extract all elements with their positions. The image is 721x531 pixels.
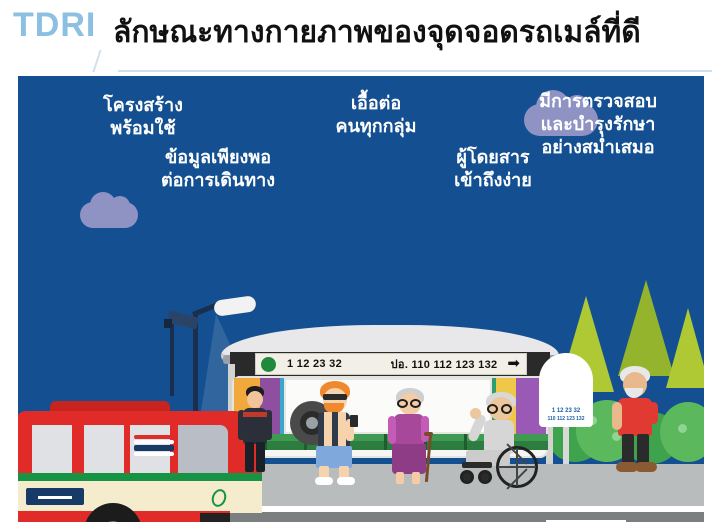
sign-routes-line2: 110 112 123 132: [536, 415, 596, 423]
shoe: [635, 462, 657, 472]
route-numbers-aircon: ปอ. 110 112 123 132: [391, 355, 498, 373]
glasses-icon: [397, 399, 408, 408]
sunglasses-icon: [323, 394, 347, 400]
bus-window: [30, 423, 74, 475]
glasses-icon: [487, 404, 498, 414]
cctv-pole: [170, 324, 174, 396]
crosswalk-stripe: [546, 520, 626, 522]
bus-stop-sign-routes: 1 12 23 32 110 112 123 132: [536, 407, 596, 423]
person-officer: [238, 386, 272, 476]
bus-destination-plate: [26, 488, 84, 505]
header-underline: [118, 70, 712, 72]
thai-flag-decal: [134, 433, 174, 455]
tree-far-right: [666, 308, 704, 388]
bus-bumper: [200, 513, 230, 522]
person-elderly-woman-with-cane: [384, 388, 438, 484]
person-elderly-jogger: [613, 366, 659, 474]
sign-routes-line1: 1 12 23 32: [536, 407, 596, 415]
wheelchair-footrest: [462, 462, 492, 468]
route-numbers-ordinary: 1 12 23 32: [287, 358, 342, 370]
tdri-logo: TDRI: [13, 8, 96, 42]
bus-window: [82, 423, 126, 475]
label-inclusive-for-all: เอื้อต่อ คนทุกกลุ่ม: [296, 92, 456, 138]
label-sufficient-information: ข้อมูลเพียงพอ ต่อการเดินทาง: [118, 146, 318, 192]
raised-hand-icon: [470, 408, 481, 419]
wheelchair-caster-rear: [478, 470, 492, 484]
green-route-dot-icon: [261, 357, 276, 372]
slide-root: TDRI ลักษณะทางกายภาพของจุดจอดรถเมล์ที่ดี: [0, 0, 721, 531]
route-info-sign[interactable]: 1 12 23 32 ปอ. 110 112 123 132 ➡: [255, 353, 527, 375]
infographic-poster: โครงสร้าง พร้อมใช้ ข้อมูลเพียงพอ ต่อการเ…: [18, 76, 704, 522]
person-tourist-with-phone: [306, 381, 360, 481]
label-infrastructure-ready: โครงสร้าง พร้อมใช้: [68, 94, 218, 140]
page-title: ลักษณะทางกายภาพของจุดจอดรถเมล์ที่ดี: [113, 10, 713, 56]
direction-arrow-icon: ➡: [507, 359, 520, 369]
cctv-lens-icon: [164, 319, 172, 328]
person-wheelchair-user: [456, 394, 536, 484]
smartphone-icon: [350, 415, 358, 427]
wheelchair-caster-front: [460, 470, 474, 484]
shorts: [316, 446, 352, 468]
beard-icon: [625, 388, 643, 398]
label-regular-maintenance: มีการตรวจสอบ และบำรุงรักษา อย่างสม่ำเสมอ: [508, 90, 688, 159]
cloud-left: [80, 202, 138, 228]
city-bus: [18, 393, 268, 522]
slide-header: TDRI ลักษณะทางกายภาพของจุดจอดรถเมล์ที่ดี: [0, 0, 721, 72]
skirt: [392, 444, 426, 474]
